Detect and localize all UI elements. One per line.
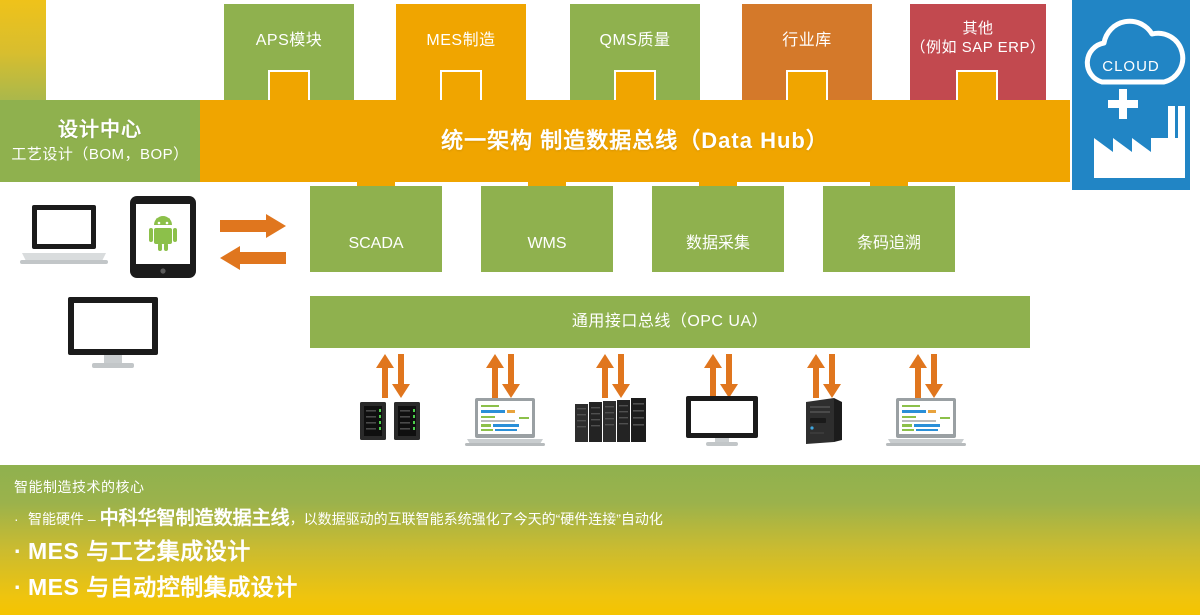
laptop-dashboard-icon[interactable] — [884, 398, 968, 446]
top-module-aps-label: APS模块 — [256, 31, 323, 51]
mid-module-barcode-trace-label: 条码追溯 — [857, 234, 921, 254]
mid-module-barcode-trace[interactable]: 条码追溯 — [823, 186, 955, 272]
banner-item-3-text: MES 与自动控制集成设计 — [28, 574, 298, 600]
mid-module-wms[interactable]: WMS — [481, 186, 613, 272]
banner-item-2: ·MES 与工艺集成设计 — [14, 532, 1186, 566]
arrow-right-icon — [220, 214, 286, 238]
top-module-mes-label: MES制造 — [426, 31, 495, 51]
hub-tab-up-other — [956, 70, 998, 104]
mid-module-scada-label: SCADA — [348, 234, 403, 254]
top-module-other-erp-label: 其他 （例如 SAP ERP） — [911, 20, 1046, 58]
server-rack-icon[interactable] — [573, 396, 653, 444]
right-vertical-connector — [0, 0, 46, 116]
data-hub-bar[interactable]: 统一架构 制造数据总线（Data Hub） — [200, 100, 1070, 182]
mid-module-data-collection-label: 数据采集 — [686, 234, 750, 254]
bullet-icon: · — [14, 511, 28, 527]
hub-tab-up-mes — [440, 70, 482, 104]
arrow-up-down-pair — [803, 354, 845, 398]
mid-module-data-collection[interactable]: 数据采集 — [652, 186, 784, 272]
bullet-icon: · — [14, 538, 28, 565]
desktop-monitor-icon[interactable] — [684, 396, 760, 446]
mid-module-wms-label: WMS — [527, 234, 566, 254]
top-module-qms-label: QMS质量 — [600, 31, 671, 51]
design-center-subtitle: 工艺设计（BOM，BOP） — [11, 146, 188, 165]
banner-item-2-text: MES 与工艺集成设计 — [28, 538, 251, 564]
interface-bus[interactable]: 通用接口总线（OPC UA） — [310, 296, 1030, 348]
arrow-left-icon — [220, 246, 286, 270]
banner-list: ·智能硬件 – 中科华智制造数据主线，以数据驱动的互联智能系统强化了今天的“硬件… — [14, 503, 1186, 602]
cloud-label: CLOUD — [1072, 58, 1190, 75]
banner-item-1: ·智能硬件 – 中科华智制造数据主线，以数据驱动的互联智能系统强化了今天的“硬件… — [14, 503, 1186, 530]
bottom-banner: 智能制造技术的核心 ·智能硬件 – 中科华智制造数据主线，以数据驱动的互联智能系… — [0, 465, 1200, 615]
hub-tab-up-industry — [786, 70, 828, 104]
hub-tab-up-aps — [268, 70, 310, 104]
banner-item-3: ·MES 与自动控制集成设计 — [14, 568, 1186, 602]
design-center-panel[interactable]: 设计中心 工艺设计（BOM，BOP） — [0, 100, 200, 182]
arrow-up-down-pair — [905, 354, 947, 398]
arrow-up-down-pair — [700, 354, 742, 398]
banner-heading: 智能制造技术的核心 — [14, 477, 1186, 497]
mid-module-scada[interactable]: SCADA — [310, 186, 442, 272]
banner-item-1-prefix: 智能硬件 – — [28, 511, 100, 527]
tower-pc-icon[interactable] — [800, 396, 846, 446]
arrow-up-down-pair — [482, 354, 524, 398]
server-pair-icon[interactable] — [358, 398, 426, 444]
hub-tab-up-qms — [614, 70, 656, 104]
interface-bus-label: 通用接口总线（OPC UA） — [572, 312, 768, 332]
architecture-diagram: APS模块 MES制造 QMS质量 行业库 其他 （例如 SAP ERP） 设计… — [0, 0, 1200, 615]
design-center-title: 设计中心 — [58, 118, 142, 143]
desktop-monitor-icon[interactable] — [66, 297, 160, 369]
arrow-up-down-pair — [372, 354, 414, 398]
banner-item-1-suffix: ，以数据驱动的互联智能系统强化了今天的“硬件连接”自动化 — [290, 511, 663, 527]
android-tablet-icon[interactable] — [130, 196, 196, 278]
bullet-icon: · — [14, 574, 28, 601]
factory-icon — [1094, 106, 1185, 178]
cloud-factory-panel[interactable]: CLOUD — [1072, 0, 1190, 190]
data-hub-label: 统一架构 制造数据总线（Data Hub） — [441, 127, 829, 155]
arrow-up-down-pair — [592, 354, 634, 398]
top-module-industry-library-label: 行业库 — [782, 31, 832, 51]
laptop-dashboard-icon[interactable] — [463, 398, 547, 446]
laptop-icon[interactable] — [18, 203, 110, 267]
plus-icon — [1108, 89, 1138, 119]
banner-item-1-strong: 中科华智制造数据主线 — [100, 508, 290, 529]
